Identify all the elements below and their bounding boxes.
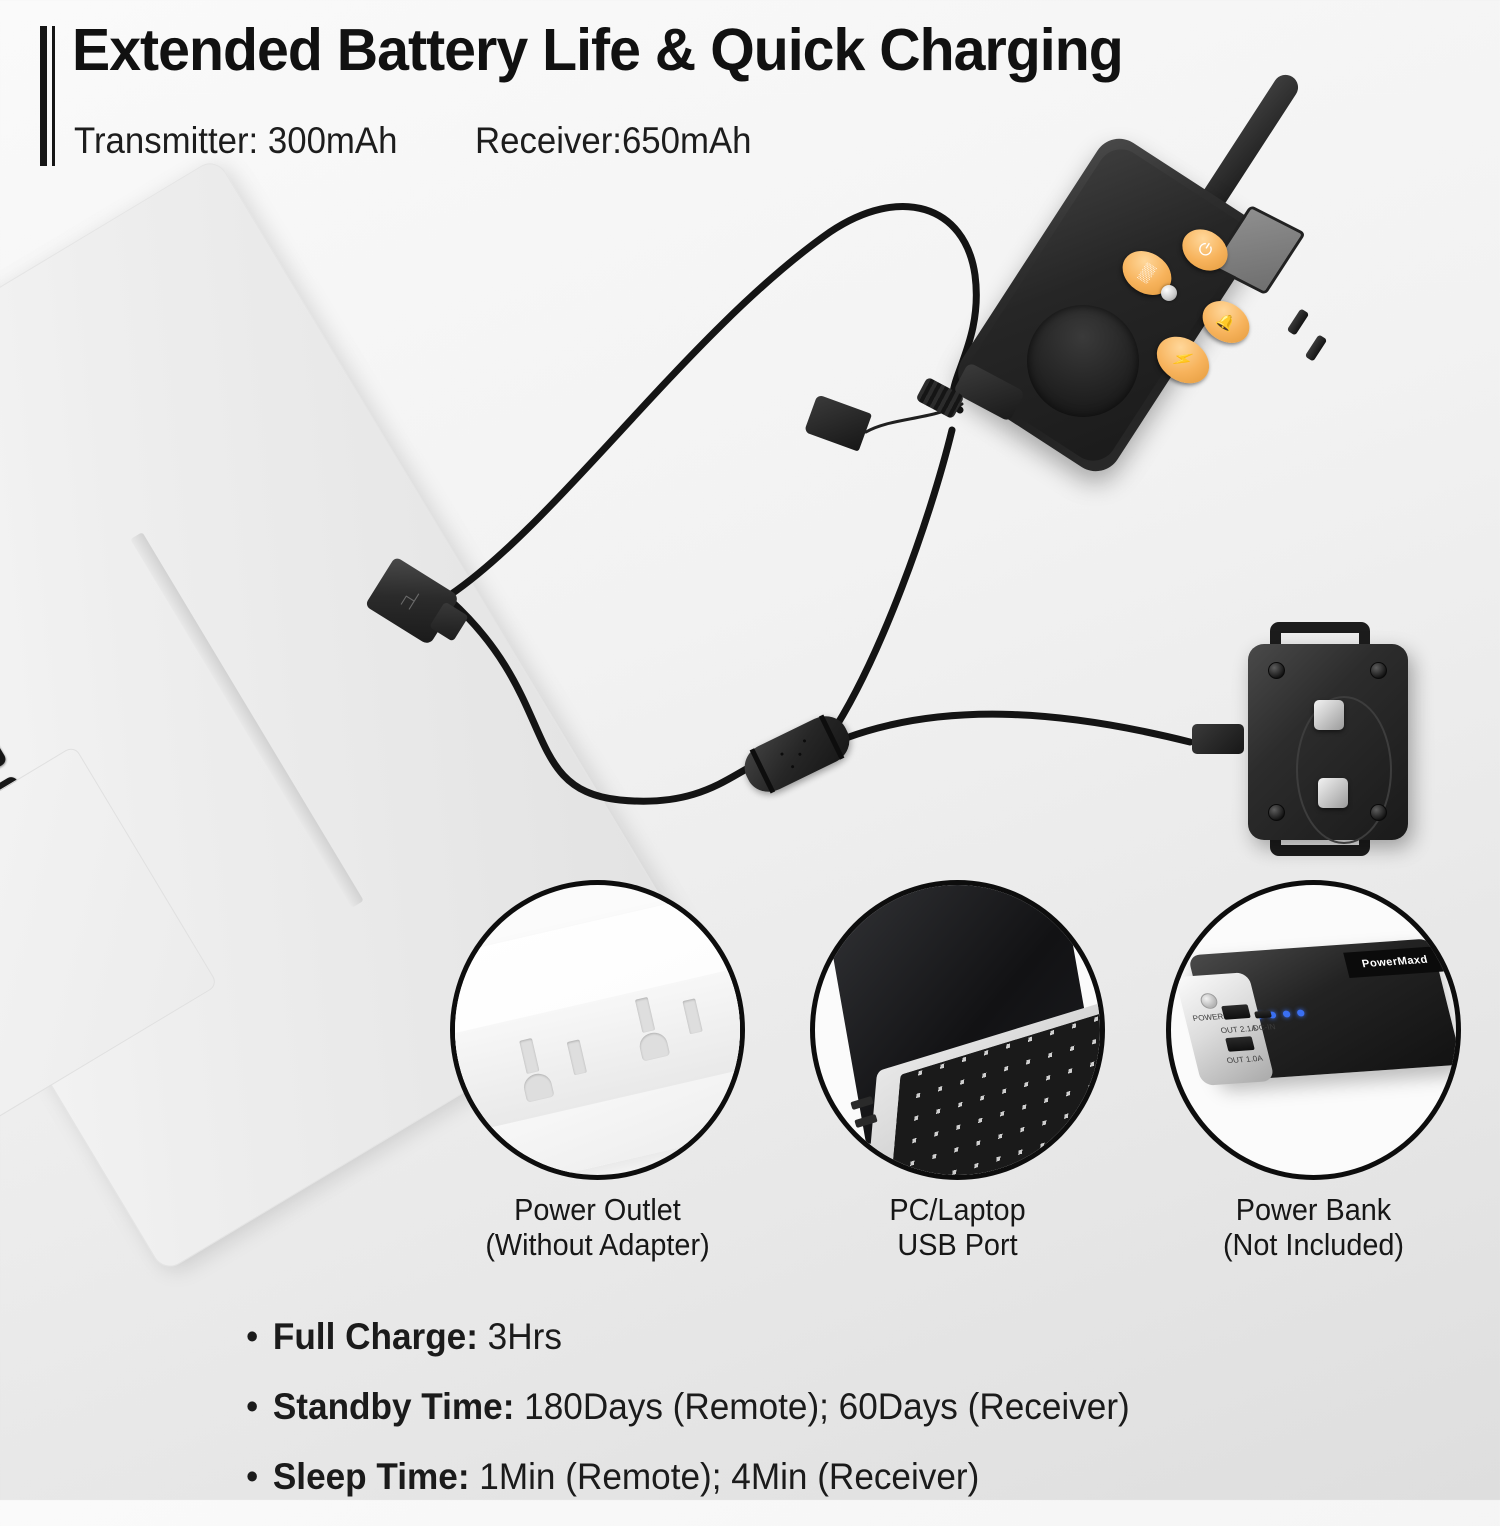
remote-transmitter: ▒ ⏻ 🔔 ⚡ [1005, 135, 1365, 475]
outlet-slot [567, 1039, 587, 1075]
spec-sleep-time: • Sleep Time: 1Min (Remote); 4Min (Recei… [246, 1456, 1367, 1498]
charging-methods-row: Power Outlet (Without Adapter) PC/Laptop… [440, 880, 1470, 1300]
spec-full-charge: • Full Charge: 3Hrs [246, 1316, 1367, 1358]
grid-dots-icon: ▒ [1136, 261, 1157, 284]
receiver-capacity: Receiver:650mAh [475, 120, 751, 161]
receiver-housing [1248, 644, 1408, 840]
bullet-dot: • [246, 1386, 263, 1428]
rubber-port-cover [804, 394, 872, 451]
spec-label: Sleep Time: [273, 1456, 470, 1497]
collar-receiver [1232, 618, 1432, 868]
spec-standby-time: • Standby Time: 180Days (Remote); 60Days… [246, 1386, 1367, 1428]
accent-bar-thin [52, 26, 55, 166]
charging-method-power-outlet: Power Outlet (Without Adapter) [450, 880, 745, 1262]
spec-label: Full Charge: [273, 1316, 478, 1357]
laptop-usb-photo [810, 880, 1105, 1180]
pc-laptop-caption: PC/Laptop USB Port [820, 1192, 1094, 1262]
side-button-up[interactable] [1287, 308, 1310, 335]
battery-spec-row: Transmitter: 300mAh Receiver:650mAh [74, 120, 751, 162]
power-bank-caption: Power Bank (Not Included) [1176, 1192, 1450, 1262]
outlet-slot [519, 1038, 539, 1074]
spec-value: 1Min (Remote); 4Min (Receiver) [479, 1456, 979, 1497]
bell-icon: 🔔 [1213, 309, 1238, 334]
power-icon: ⏻ [1194, 238, 1216, 262]
screw-top-left [1268, 662, 1285, 679]
bullet-dot: • [246, 1456, 263, 1498]
specs-list: • Full Charge: 3Hrs • Standby Time: 180D… [246, 1316, 1426, 1526]
contact-prong-bottom [1318, 778, 1348, 808]
bullet-dot: • [246, 1316, 263, 1358]
power-bank-photo: PowerMaxd POWER OUT 2.1A DC-IN OUT 1.0A [1166, 880, 1461, 1180]
spec-value: 3Hrs [488, 1316, 562, 1357]
accent-bar-thick [40, 26, 47, 166]
contact-prong-top [1314, 700, 1344, 730]
micro-usb-in-port [1254, 1011, 1272, 1019]
dc-in-label: DC-IN [1252, 1022, 1277, 1032]
outlet-ground [521, 1071, 554, 1103]
status-led [1161, 285, 1177, 301]
screw-top-right [1370, 662, 1387, 679]
spec-value: 180Days (Remote); 60Days (Receiver) [524, 1386, 1130, 1427]
screw-bottom-left [1268, 804, 1285, 821]
led-3 [1282, 1010, 1291, 1017]
outlet-slot [635, 997, 655, 1033]
transmitter-capacity: Transmitter: 300mAh [74, 120, 397, 161]
usb-out-port-2 [1225, 1036, 1255, 1051]
led-4 [1296, 1009, 1305, 1016]
outlet-slot [682, 998, 702, 1034]
power-outlet-photo [450, 880, 745, 1180]
power-outlet-caption: Power Outlet (Without Adapter) [460, 1192, 734, 1262]
outlet-face [450, 949, 745, 1141]
wall-outlet-icon [450, 880, 745, 1180]
cable-splitter [737, 708, 857, 799]
spec-label: Standby Time: [273, 1386, 515, 1427]
outlet-ground [637, 1030, 670, 1062]
side-button-down[interactable] [1305, 334, 1328, 361]
receiver-charging-jack [1192, 724, 1244, 754]
charging-method-pc-laptop: PC/Laptop USB Port [810, 880, 1105, 1262]
title-accent-bars [40, 26, 62, 166]
charging-method-power-bank: PowerMaxd POWER OUT 2.1A DC-IN OUT 1.0A … [1166, 880, 1461, 1262]
page-title: Extended Battery Life & Quick Charging [72, 16, 1123, 84]
usb-out-port-1 [1221, 1004, 1251, 1019]
screw-bottom-right [1370, 804, 1387, 821]
lightning-icon: ⚡ [1169, 346, 1198, 374]
receiver-contact-plate [1296, 696, 1392, 844]
